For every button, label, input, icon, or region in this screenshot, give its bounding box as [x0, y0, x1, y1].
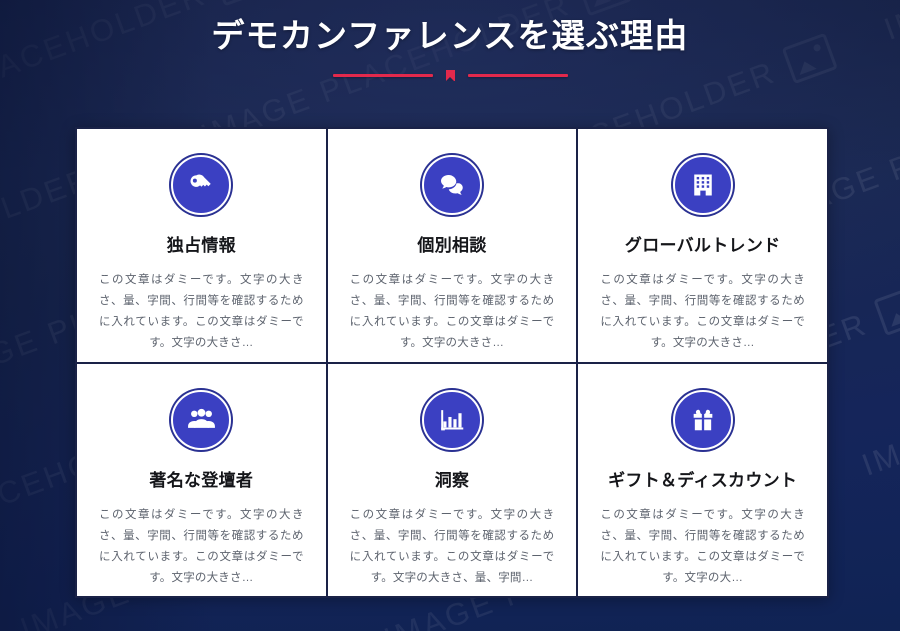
divider-line-right — [468, 74, 568, 77]
divider-line-left — [333, 74, 433, 77]
watermark-label: IMAGE PLACEHOLDER — [857, 316, 900, 483]
chat-bubbles-icon — [422, 155, 482, 215]
feature-card-title: グローバルトレンド — [625, 234, 781, 258]
gift-icon — [673, 390, 733, 450]
feature-card-body: この文章はダミーです。文字の大きさ、量、字間、行間等を確認するために入れています… — [99, 505, 304, 589]
feature-card-title: ギフト＆ディスカウント — [608, 469, 797, 493]
feature-card-title: 洞察 — [435, 469, 470, 493]
feature-card-grid: 独占情報 この文章はダミーです。文字の大きさ、量、字間、行間等を確認するために入… — [75, 127, 829, 598]
feature-card-body: この文章はダミーです。文字の大きさ、量、字間、行間等を確認するために入れています… — [600, 505, 805, 589]
feature-card-body: この文章はダミーです。文字の大きさ、量、字間、行間等を確認するために入れています… — [600, 270, 805, 354]
key-icon — [171, 155, 231, 215]
feature-card[interactable]: 独占情報 この文章はダミーです。文字の大きさ、量、字間、行間等を確認するために入… — [77, 129, 326, 362]
section-header: デモカンファレンスを選ぶ理由 — [0, 14, 900, 81]
image-placeholder-icon — [873, 285, 900, 336]
people-group-icon — [171, 390, 231, 450]
page-title: デモカンファレンスを選ぶ理由 — [0, 14, 900, 58]
image-placeholder-icon — [212, 0, 268, 6]
feature-card-body: この文章はダミーです。文字の大きさ、量、字間、行間等を確認するために入れています… — [99, 270, 304, 354]
bookmark-marker-icon — [446, 70, 455, 81]
watermark-unit: IMAGE PLACEHOLDER — [857, 295, 900, 485]
feature-card[interactable]: 洞察 この文章はダミーです。文字の大きさ、量、字間、行間等を確認するために入れて… — [328, 364, 577, 597]
feature-card[interactable]: グローバルトレンド この文章はダミーです。文字の大きさ、量、字間、行間等を確認す… — [578, 129, 827, 362]
feature-card-title: 独占情報 — [167, 234, 236, 258]
bar-chart-icon — [422, 390, 482, 450]
title-divider — [0, 70, 900, 81]
building-icon — [673, 155, 733, 215]
feature-card-title: 著名な登壇者 — [149, 469, 253, 493]
feature-card[interactable]: 著名な登壇者 この文章はダミーです。文字の大きさ、量、字間、行間等を確認するため… — [77, 364, 326, 597]
feature-card-body: この文章はダミーです。文字の大きさ、量、字間、行間等を確認するために入れています… — [350, 270, 555, 354]
feature-card[interactable]: 個別相談 この文章はダミーです。文字の大きさ、量、字間、行間等を確認するために入… — [328, 129, 577, 362]
feature-card-title: 個別相談 — [417, 234, 486, 258]
feature-card-body: この文章はダミーです。文字の大きさ、量、字間、行間等を確認するために入れています… — [350, 505, 555, 589]
feature-card[interactable]: ギフト＆ディスカウント この文章はダミーです。文字の大きさ、量、字間、行間等を確… — [578, 364, 827, 597]
page-root: IMAGE PLACEHOLDER IMAGE PLACEHOLDER IMAG… — [0, 0, 900, 631]
